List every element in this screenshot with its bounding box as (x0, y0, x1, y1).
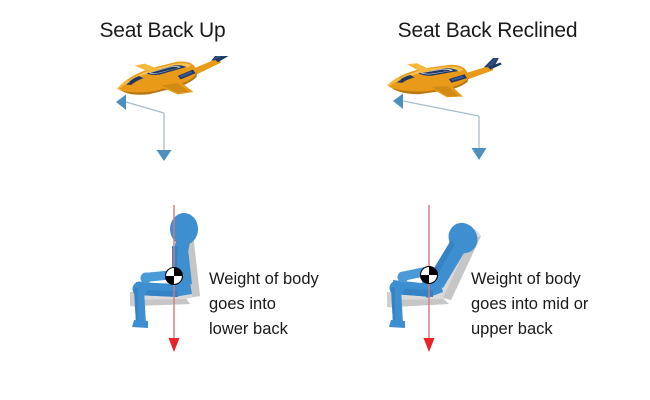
panel-seat-back-up: Seat Back Up (0, 0, 325, 400)
horizontal-blue-arrow-left (116, 95, 164, 114)
horizontal-blue-arrow-left (393, 94, 479, 117)
caption-seat-back-up: Weight of body goes into lower back (209, 267, 339, 342)
center-of-mass-marker (166, 268, 183, 285)
panel-seat-back-reclined: Seat Back Reclined (325, 0, 650, 400)
motion-arrows-area-right (325, 90, 650, 170)
panel-title-seat-back-up: Seat Back Up (0, 18, 325, 44)
center-of-mass-marker (421, 267, 438, 284)
vertical-blue-arrow-down (157, 113, 172, 161)
vertical-blue-arrow-down (472, 116, 487, 160)
motion-arrows-area-left (0, 90, 325, 170)
person-upright (132, 213, 198, 328)
panel-title-seat-back-reclined: Seat Back Reclined (325, 18, 650, 44)
diagram-slide: Seat Back Up (0, 0, 650, 400)
motion-arrows-left (108, 90, 188, 170)
caption-seat-back-reclined: Weight of body goes into mid or upper ba… (471, 267, 621, 342)
motion-arrows-right (383, 90, 503, 170)
